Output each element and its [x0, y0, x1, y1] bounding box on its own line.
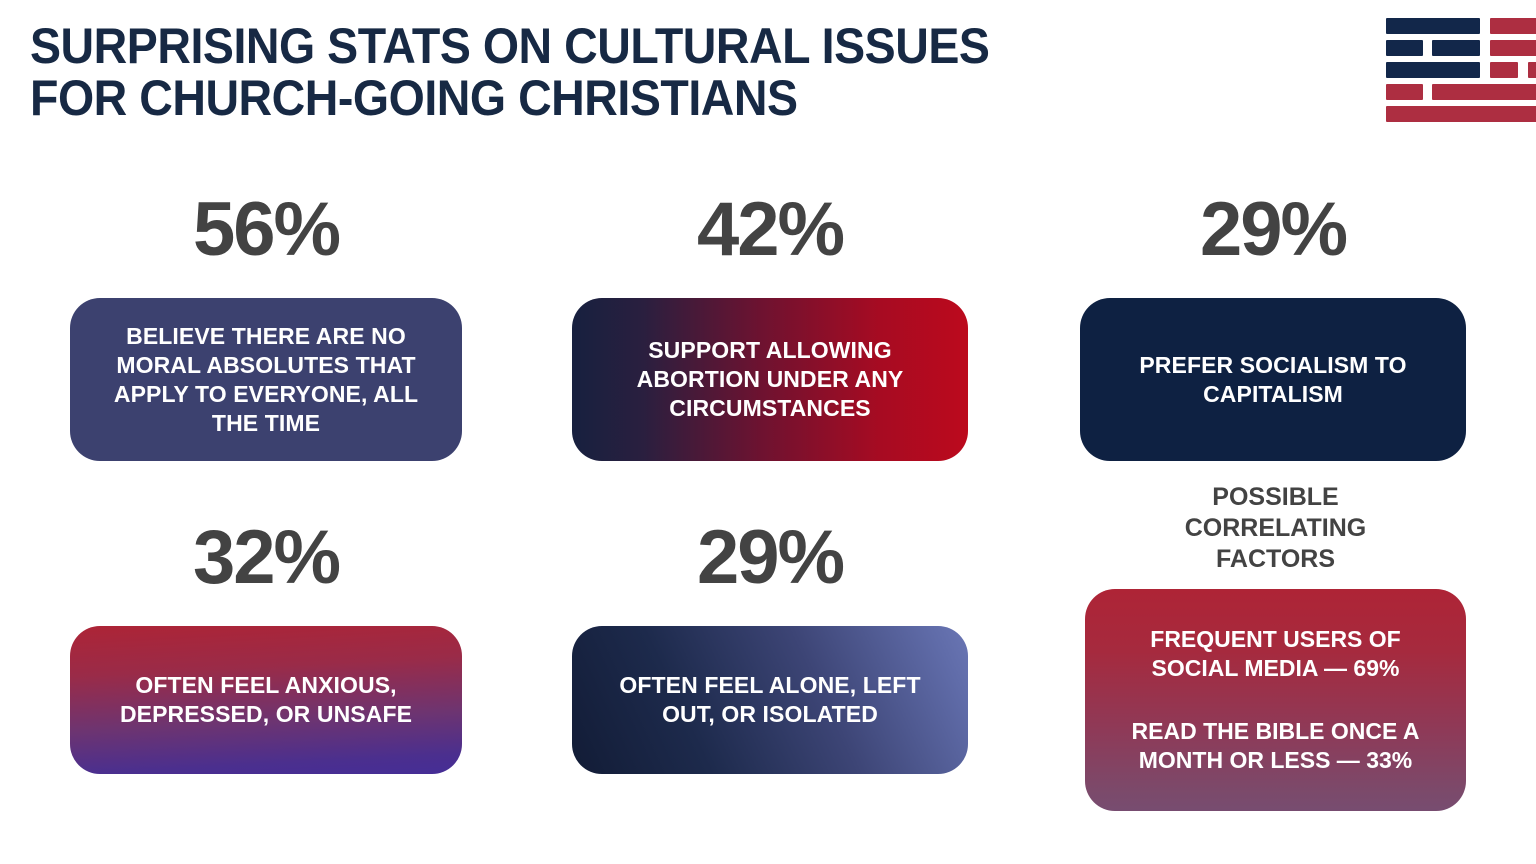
- stat-card: PREFER SOCIALISM TO CAPITALISM: [1080, 298, 1466, 461]
- logo-bar: [1490, 18, 1536, 34]
- stat-card-label: BELIEVE THERE ARE NO MORAL ABSOLUTES THA…: [114, 322, 418, 438]
- stat-card: OFTEN FEEL ALONE, LEFT OUT, OR ISOLATED: [572, 626, 968, 774]
- logo-bar: [1386, 106, 1536, 122]
- stat-card-label: OFTEN FEEL ANXIOUS, DEPRESSED, OR UNSAFE: [120, 671, 412, 729]
- logo-bar: [1490, 40, 1536, 56]
- logo-bar: [1386, 84, 1423, 100]
- correlating-factors-block: POSSIBLE CORRELATING FACTORS FREQUENT US…: [1085, 482, 1466, 811]
- logo-bar: [1432, 84, 1536, 100]
- logo-bar: [1386, 62, 1480, 78]
- stat-card: SUPPORT ALLOWING ABORTION UNDER ANY CIRC…: [572, 298, 968, 461]
- stat-percentage: 32%: [70, 518, 462, 598]
- stat-percentage: 29%: [1080, 190, 1466, 270]
- logo-bar: [1528, 62, 1536, 78]
- stat-cell-no-moral-absolutes: 56% BELIEVE THERE ARE NO MORAL ABSOLUTES…: [70, 190, 462, 461]
- stat-cell-feel-anxious: 32% OFTEN FEEL ANXIOUS, DEPRESSED, OR UN…: [70, 518, 462, 774]
- stat-card-label: PREFER SOCIALISM TO CAPITALISM: [1139, 351, 1406, 409]
- stat-percentage: 29%: [572, 518, 968, 598]
- correlating-factors-card: FREQUENT USERS OF SOCIAL MEDIA — 69% REA…: [1085, 589, 1466, 811]
- logo-bar: [1386, 40, 1423, 56]
- logo-bar: [1432, 40, 1480, 56]
- stat-percentage: 42%: [572, 190, 968, 270]
- correlating-factor-item: FREQUENT USERS OF SOCIAL MEDIA — 69%: [1150, 625, 1400, 683]
- logo-bar: [1490, 62, 1518, 78]
- header: SURPRISING STATS ON CULTURAL ISSUES FOR …: [0, 0, 1536, 150]
- correlating-factor-item: READ THE BIBLE ONCE A MONTH OR LESS — 33…: [1132, 717, 1420, 775]
- logo-bar: [1386, 18, 1480, 34]
- stylized-flag-logo: [1386, 18, 1512, 106]
- stat-cell-feel-alone: 29% OFTEN FEEL ALONE, LEFT OUT, OR ISOLA…: [572, 518, 968, 774]
- stat-card-label: SUPPORT ALLOWING ABORTION UNDER ANY CIRC…: [637, 336, 904, 423]
- stat-percentage: 56%: [70, 190, 462, 270]
- stat-cell-prefer-socialism: 29% PREFER SOCIALISM TO CAPITALISM: [1080, 190, 1466, 461]
- stat-card: OFTEN FEEL ANXIOUS, DEPRESSED, OR UNSAFE: [70, 626, 462, 774]
- correlating-factors-heading: POSSIBLE CORRELATING FACTORS: [1085, 482, 1466, 575]
- stat-card: BELIEVE THERE ARE NO MORAL ABSOLUTES THA…: [70, 298, 462, 461]
- page-title: SURPRISING STATS ON CULTURAL ISSUES FOR …: [30, 20, 1239, 124]
- stat-card-label: OFTEN FEEL ALONE, LEFT OUT, OR ISOLATED: [619, 671, 920, 729]
- stat-cell-support-abortion: 42% SUPPORT ALLOWING ABORTION UNDER ANY …: [572, 190, 968, 461]
